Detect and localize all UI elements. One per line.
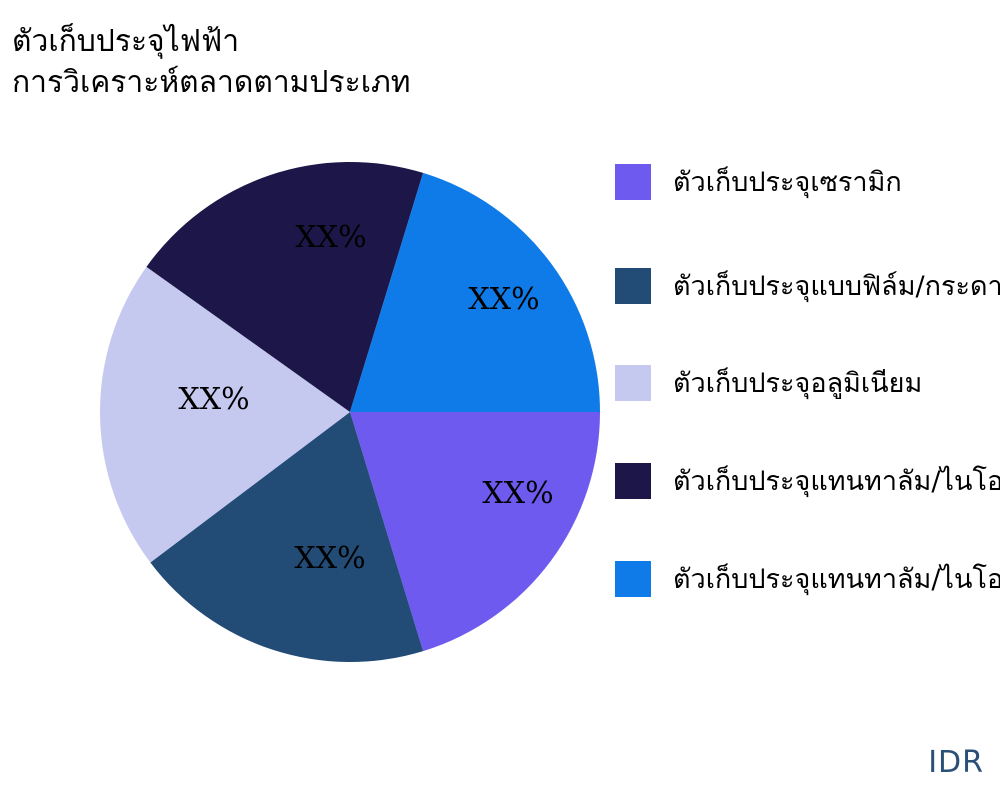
pie-slice-label: XX% <box>294 541 365 576</box>
legend-item[interactable]: ตัวเก็บประจุอลูมิเนียม <box>615 361 922 404</box>
pie-slice-label: XX% <box>482 476 553 511</box>
watermark-idr: IDR <box>928 745 984 780</box>
legend-item-label: ตัวเก็บประจุแทนทาลัม/ไนโอเบียม <box>673 459 1000 502</box>
pie-slice-label: XX% <box>295 220 366 255</box>
legend-item-label: ตัวเก็บประจุแบบฟิล์ม/กระดาษ <box>673 264 1000 307</box>
pie-slice-label: XX% <box>468 282 539 317</box>
legend-color-swatch <box>615 365 651 401</box>
legend-item-label: ตัวเก็บประจุอลูมิเนียม <box>673 361 922 404</box>
legend-color-swatch <box>615 164 651 200</box>
legend-item-label: ตัวเก็บประจุแทนทาลัม/ไนโอเบียม <box>673 557 1000 600</box>
legend-item[interactable]: ตัวเก็บประจุแทนทาลัม/ไนโอเบียม <box>615 459 1000 502</box>
legend-color-swatch <box>615 268 651 304</box>
legend-color-swatch <box>615 561 651 597</box>
pie-slice-label: XX% <box>178 382 249 417</box>
legend-color-swatch <box>615 463 651 499</box>
legend-item-label: ตัวเก็บประจุเซรามิก <box>673 160 902 203</box>
legend-item[interactable]: ตัวเก็บประจุเซรามิก <box>615 160 902 203</box>
legend-item[interactable]: ตัวเก็บประจุแทนทาลัม/ไนโอเบียม <box>615 557 1000 600</box>
legend-item[interactable]: ตัวเก็บประจุแบบฟิล์ม/กระดาษ <box>615 264 1000 307</box>
